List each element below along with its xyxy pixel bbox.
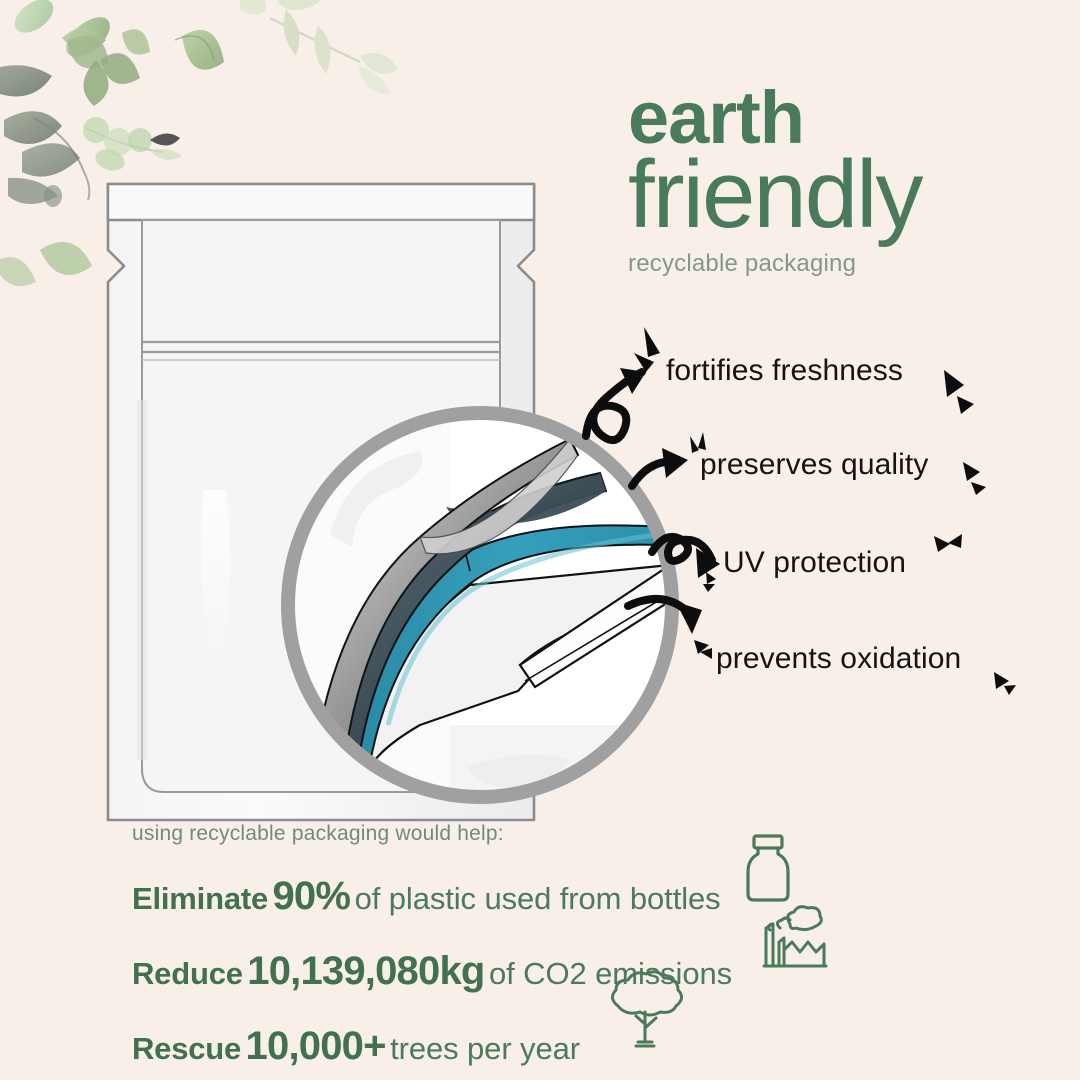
headline-line-2: friendly xyxy=(628,149,1048,240)
magnified-layers-illustration xyxy=(270,395,690,815)
stat-row: Rescue 10,000+ trees per year xyxy=(132,1024,932,1069)
feature-label-fortifies-freshness: fortifies freshness xyxy=(666,354,903,388)
stat-number: 10,000+ xyxy=(246,1024,386,1068)
headline-subtitle: recyclable packaging xyxy=(628,250,1048,278)
feature-label-prevents-oxidation: prevents oxidation xyxy=(716,642,961,676)
stat-number: 90% xyxy=(272,874,350,918)
tree-icon xyxy=(600,968,690,1050)
headline-block: earth friendly recyclable packaging xyxy=(628,84,1048,278)
bottle-icon xyxy=(740,832,796,904)
infographic-canvas: earth friendly recyclable packaging xyxy=(0,0,1080,1080)
feature-label-uv-protection: UV protection xyxy=(723,546,906,580)
feature-label-preserves-quality: preserves quality xyxy=(700,448,928,482)
stat-verb: Reduce xyxy=(132,956,243,991)
stat-description: trees per year xyxy=(390,1031,580,1066)
stat-number: 10,139,080kg xyxy=(247,949,484,993)
foliage-decoration-top xyxy=(240,0,520,170)
stats-intro: using recyclable packaging would help: xyxy=(132,822,932,846)
stat-verb: Rescue xyxy=(132,1031,241,1066)
stat-description: of plastic used from bottles xyxy=(355,881,721,916)
factory-icon xyxy=(762,902,828,970)
stat-verb: Eliminate xyxy=(132,881,268,916)
